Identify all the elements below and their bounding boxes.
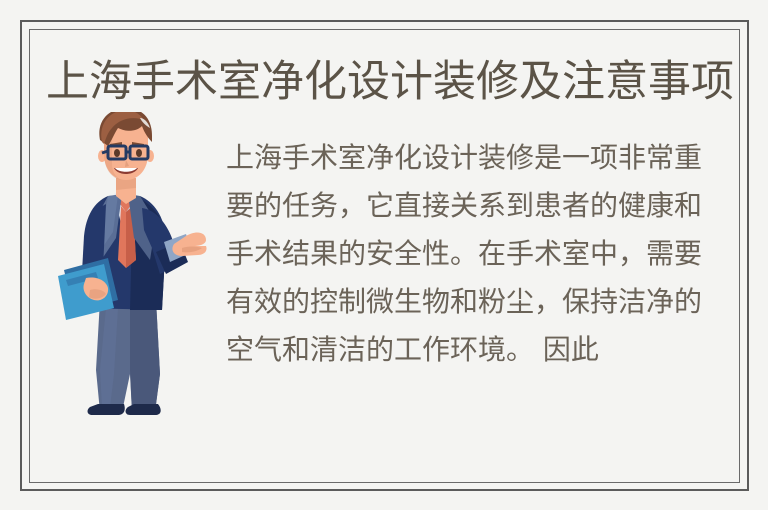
trousers-group bbox=[96, 300, 160, 412]
shoes-group bbox=[88, 404, 161, 415]
article-body: 上海手术室净化设计装修是一项非常重要的任务，它直接关系到患者的健康和手术结果的安… bbox=[226, 134, 725, 374]
page-title: 上海手术室净化设计装修及注意事项 bbox=[46, 56, 726, 112]
head bbox=[98, 112, 154, 180]
businessman-presenting-illustration bbox=[56, 112, 208, 422]
article-card: 上海手术室净化设计装修及注意事项 上海手术室净化设计装修是一项非常重要的任务，它… bbox=[0, 0, 768, 510]
